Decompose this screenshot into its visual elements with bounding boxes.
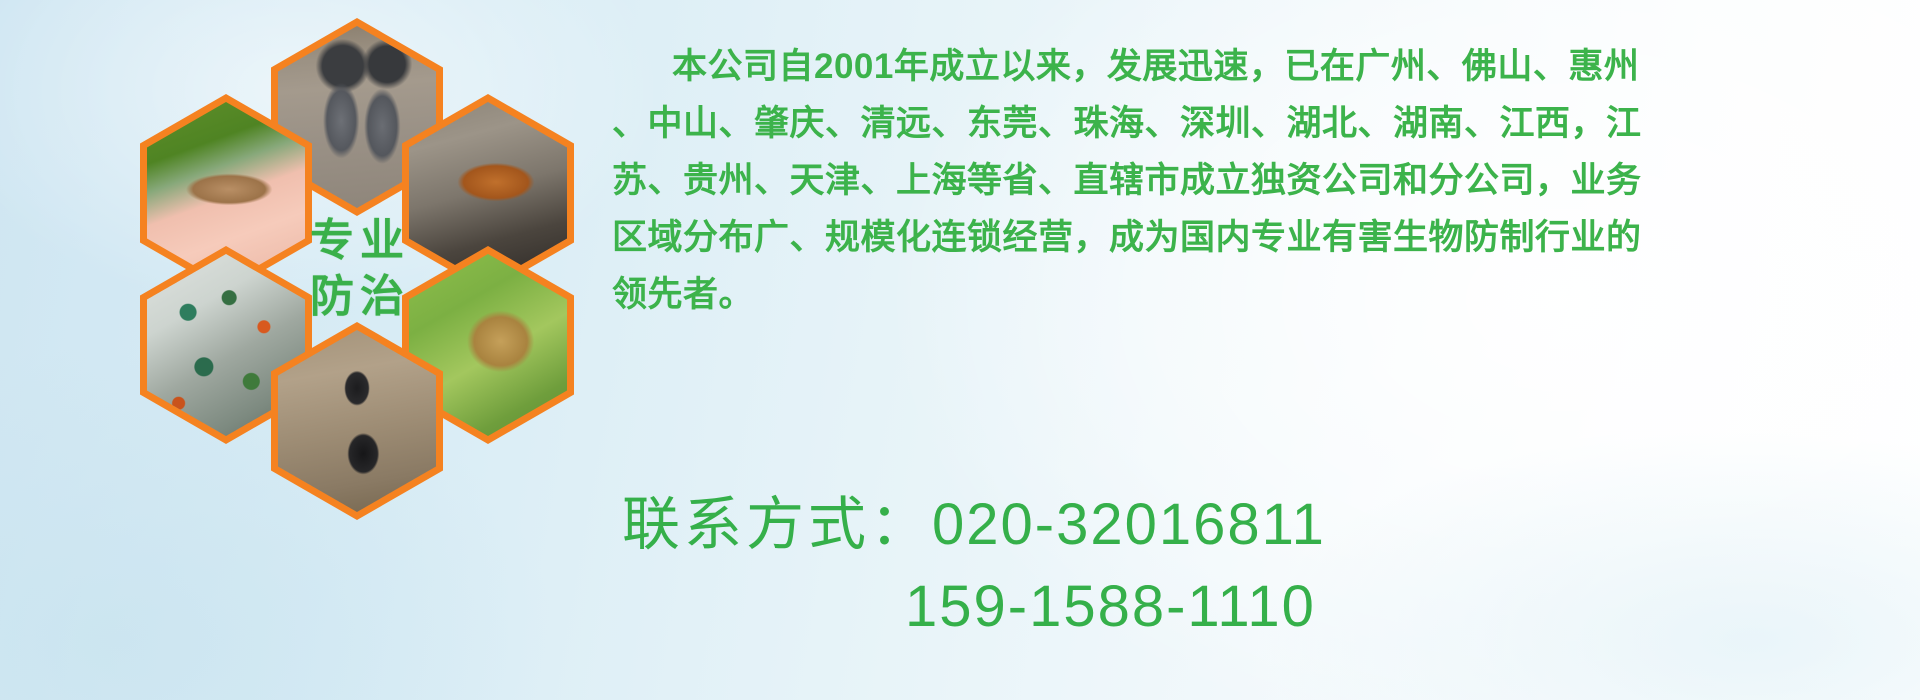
contact-info: 联系方式：020-32016811 159-1588-1110 [612, 484, 1852, 648]
about-line-1: 本公司自2001年成立以来，发展迅速，已在广州、佛山、惠州 [612, 38, 1837, 95]
contact-mobile-row: 159-1588-1110 [612, 566, 1852, 648]
about-line-2: 、中山、肇庆、清远、东莞、珠海、深圳、湖北、湖南、江西，江 [612, 95, 1837, 152]
center-slogan-line2: 防治 [304, 274, 410, 320]
hex-inner-ant [278, 330, 436, 512]
about-line-3: 苏、贵州、天津、上海等省、直辖市成立独资公司和分公司，业务 [612, 152, 1837, 209]
contact-landline-row: 联系方式：020-32016811 [612, 484, 1852, 566]
honeycomb-image-cluster: 专业 防治 [95, 0, 595, 580]
contact-label: 联系方式： [622, 492, 932, 557]
about-line-5: 领先者。 [612, 266, 1837, 323]
pest-control-banner: 专业 防治 本公司自2001年成立以来，发展迅速，已在广州、佛山、惠州 、中山、… [0, 0, 1920, 700]
company-description: 本公司自2001年成立以来，发展迅速，已在广州、佛山、惠州 、中山、肇庆、清远、… [612, 38, 1837, 323]
contact-phone-landline[interactable]: 020-32016811 [932, 492, 1326, 557]
about-line-4: 区域分布广、规模化连锁经营，成为国内专业有害生物防制行业的 [612, 209, 1837, 266]
center-slogan-line1: 专业 [304, 218, 410, 264]
contact-phone-mobile[interactable]: 159-1588-1110 [905, 574, 1316, 639]
photo-ant [278, 330, 436, 512]
